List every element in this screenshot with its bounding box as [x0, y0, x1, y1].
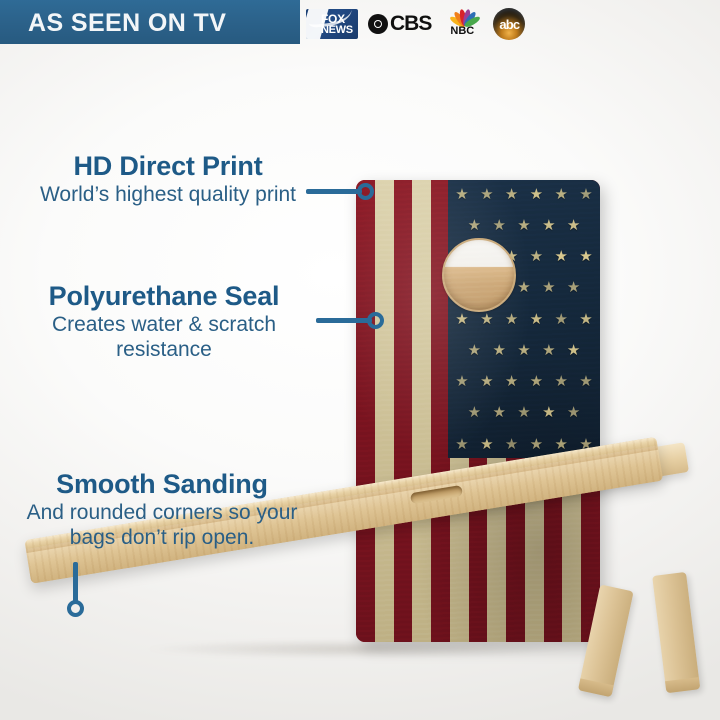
flag-star: ★ — [554, 437, 569, 452]
flag-star: ★ — [479, 187, 494, 202]
cbs-logo: CBS — [368, 12, 431, 36]
flag-star: ★ — [455, 437, 470, 452]
flag-star: ★ — [517, 405, 532, 420]
flag-star: ★ — [517, 343, 532, 358]
callout-smooth-sanding: Smooth Sanding And rounded corners so yo… — [2, 470, 322, 551]
folding-leg-back — [652, 572, 700, 693]
flag-star: ★ — [579, 312, 594, 327]
flag-star: ★ — [492, 405, 507, 420]
flag-star: ★ — [529, 187, 544, 202]
flag-star: ★ — [541, 218, 556, 233]
flag-star: ★ — [504, 312, 519, 327]
flag-star: ★ — [455, 312, 470, 327]
flag-star: ★ — [566, 218, 581, 233]
flag-star: ★ — [529, 374, 544, 389]
flag-star: ★ — [492, 218, 507, 233]
leader-line-3-marker — [67, 600, 84, 617]
callout-2-title: Polyurethane Seal — [4, 282, 324, 311]
flag-star: ★ — [529, 249, 544, 264]
network-logo-row: FOX NEWS CBS NBC abc — [306, 4, 525, 44]
flag-star: ★ — [579, 187, 594, 202]
folding-leg-front — [578, 584, 634, 697]
flag-star: ★ — [479, 437, 494, 452]
flag-star: ★ — [554, 374, 569, 389]
product-infographic: AS SEEN ON TV FOX NEWS CBS NBC abc — [0, 0, 720, 720]
leg-foot-front — [578, 678, 614, 697]
header-banner-text: AS SEEN ON TV — [28, 9, 226, 38]
flag-star: ★ — [566, 280, 581, 295]
flag-star: ★ — [504, 374, 519, 389]
flag-star: ★ — [504, 437, 519, 452]
flag-star: ★ — [467, 343, 482, 358]
fox-news-logo: FOX NEWS — [306, 9, 358, 39]
callout-hd-direct-print: HD Direct Print World’s highest quality … — [8, 152, 328, 208]
leader-line-3-bar — [73, 562, 78, 604]
flag-star: ★ — [541, 405, 556, 420]
leader-line-1-bar — [306, 189, 362, 194]
nbc-logo-text: NBC — [441, 25, 483, 37]
callout-1-subtitle: World’s highest quality print — [8, 183, 328, 208]
flag-star: ★ — [541, 343, 556, 358]
as-seen-on-tv-header: AS SEEN ON TV FOX NEWS CBS NBC abc — [0, 0, 720, 48]
flag-star: ★ — [541, 280, 556, 295]
cbs-eye-icon — [368, 14, 388, 34]
flag-star: ★ — [479, 312, 494, 327]
nbc-logo: NBC — [441, 7, 483, 41]
leader-line-1-marker — [357, 183, 374, 200]
leader-line-2-bar — [316, 318, 372, 323]
leader-line-3 — [66, 562, 88, 622]
flag-star: ★ — [492, 343, 507, 358]
callout-3-title: Smooth Sanding — [2, 470, 322, 499]
leader-line-2 — [316, 311, 396, 331]
flag-star: ★ — [554, 249, 569, 264]
flag-star: ★ — [517, 218, 532, 233]
callout-1-title: HD Direct Print — [8, 152, 328, 181]
flag-star: ★ — [455, 187, 470, 202]
leader-line-1 — [306, 182, 386, 202]
callout-polyurethane-seal: Polyurethane Seal Creates water & scratc… — [4, 282, 324, 363]
leg-foot-back — [665, 677, 700, 693]
flag-stars: ★★★★★★★★★★★★★★★★★★★★★★★★★★★★★★★★★★★★★★★★… — [448, 180, 600, 458]
leader-line-2-marker — [367, 312, 384, 329]
flag-star: ★ — [554, 187, 569, 202]
flag-star: ★ — [579, 249, 594, 264]
bean-bag-hole — [442, 238, 516, 312]
flag-star: ★ — [467, 405, 482, 420]
abc-logo-text: abc — [499, 17, 519, 32]
callout-2-subtitle: Creates water & scratch resistance — [4, 313, 324, 363]
flag-star: ★ — [504, 187, 519, 202]
flag-star: ★ — [529, 312, 544, 327]
flag-star: ★ — [529, 437, 544, 452]
flag-star: ★ — [467, 218, 482, 233]
nbc-peacock-icon — [448, 7, 478, 26]
callout-3-subtitle: And rounded corners so your bags don’t r… — [2, 501, 322, 551]
flag-star-field: ★★★★★★★★★★★★★★★★★★★★★★★★★★★★★★★★★★★★★★★★… — [448, 180, 600, 458]
flag-star: ★ — [455, 374, 470, 389]
fox-logo-line2: NEWS — [321, 25, 353, 36]
abc-logo: abc — [493, 8, 525, 40]
cbs-logo-text: CBS — [390, 12, 431, 36]
flag-star: ★ — [554, 312, 569, 327]
flag-star: ★ — [566, 405, 581, 420]
flag-star: ★ — [479, 374, 494, 389]
flag-star: ★ — [579, 374, 594, 389]
flag-star: ★ — [517, 280, 532, 295]
flag-star: ★ — [566, 343, 581, 358]
